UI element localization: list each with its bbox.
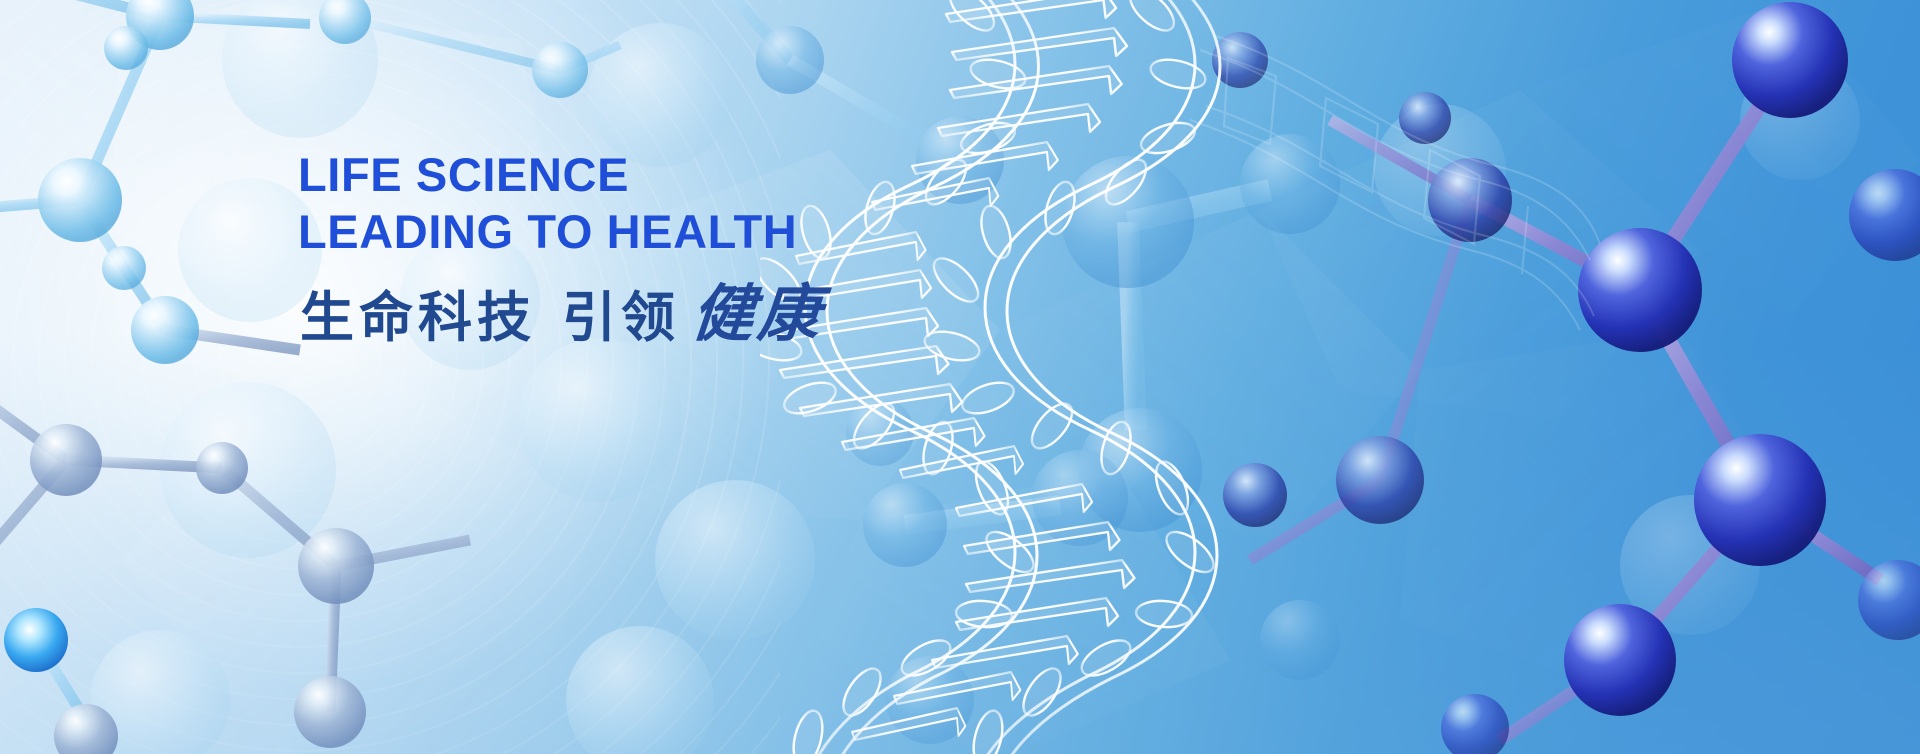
headline-line-2: LEADING TO HEALTH — [298, 203, 1058, 260]
dna-double-helix-background — [1180, 30, 1600, 360]
headline-block: LIFE SCIENCE LEADING TO HEALTH 生命科技 引领 健… — [298, 146, 1058, 345]
chinese-text-part-2: 引领 — [562, 291, 680, 345]
subtitle-chinese: 生命科技 引领 健康 — [300, 283, 1058, 345]
dna-base-pair-rungs — [776, 0, 1134, 740]
headline-line-1: LIFE SCIENCE — [298, 148, 629, 201]
chinese-text-part-3-brush: 健康 — [689, 283, 826, 345]
hero-banner: LIFE SCIENCE LEADING TO HEALTH 生命科技 引领 健… — [0, 0, 1920, 754]
chinese-text-part-1: 生命科技 — [300, 291, 536, 345]
page-title: LIFE SCIENCE LEADING TO HEALTH — [298, 146, 1058, 261]
